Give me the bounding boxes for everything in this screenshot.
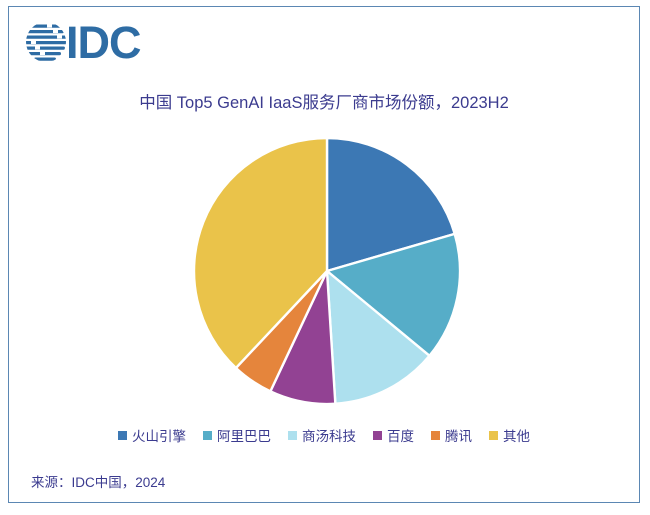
pie-slice-腾讯[interactable]	[236, 271, 327, 391]
idc-logo: IDC	[23, 16, 141, 68]
legend-swatch-icon	[203, 431, 212, 440]
legend-item-0[interactable]: 火山引擎	[118, 425, 186, 445]
pie-slice-其他[interactable]	[194, 138, 327, 368]
legend-label: 火山引擎	[132, 425, 186, 445]
pie-slice-商汤科技[interactable]	[327, 271, 429, 404]
legend-item-3[interactable]: 百度	[373, 425, 414, 445]
legend-item-2[interactable]: 商汤科技	[288, 425, 356, 445]
legend-label: 腾讯	[445, 425, 472, 445]
chart-legend: 火山引擎阿里巴巴商汤科技百度腾讯其他	[9, 425, 639, 445]
legend-item-1[interactable]: 阿里巴巴	[203, 425, 271, 445]
legend-swatch-icon	[431, 431, 440, 440]
legend-swatch-icon	[118, 431, 127, 440]
legend-swatch-icon	[373, 431, 382, 440]
legend-swatch-icon	[489, 431, 498, 440]
legend-label: 其他	[503, 425, 530, 445]
chart-title: 中国 Top5 GenAI IaaS服务厂商市场份额，2023H2	[9, 89, 639, 113]
chart-card: IDC 中国 Top5 GenAI IaaS服务厂商市场份额，2023H2 火山…	[8, 6, 640, 503]
pie-slice-火山引擎[interactable]	[327, 138, 455, 271]
legend-swatch-icon	[288, 431, 297, 440]
legend-label: 商汤科技	[302, 425, 356, 445]
source-note: 来源：IDC中国，2024	[31, 471, 165, 491]
legend-label: 百度	[387, 425, 414, 445]
pie-slice-百度[interactable]	[270, 271, 335, 404]
globe-stripes-icon	[23, 19, 69, 65]
legend-item-5[interactable]: 其他	[489, 425, 530, 445]
legend-label: 阿里巴巴	[217, 425, 271, 445]
pie-slice-阿里巴巴[interactable]	[327, 234, 460, 356]
idc-logo-text: IDC	[66, 20, 141, 65]
legend-item-4[interactable]: 腾讯	[431, 425, 472, 445]
